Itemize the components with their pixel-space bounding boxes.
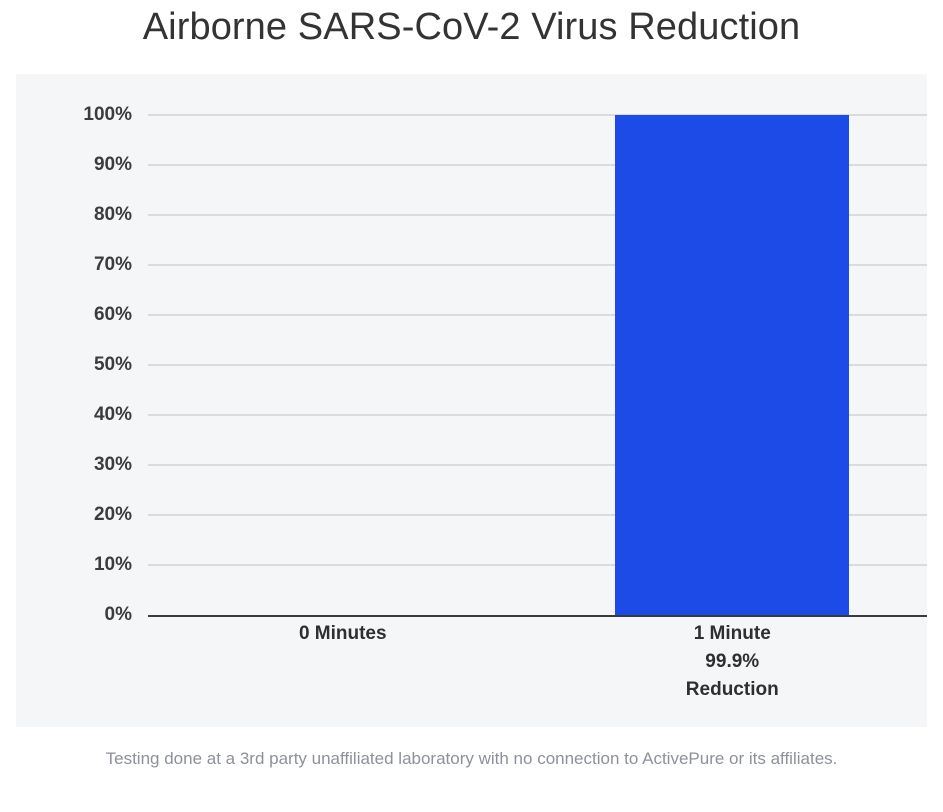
chart-caption: Testing done at a 3rd party unaffiliated… (60, 742, 883, 775)
y-axis-tick-label: 40% (22, 404, 132, 426)
y-axis-tick-label: 10% (22, 554, 132, 576)
x-axis-tick-label-line: 1 Minute (686, 620, 779, 648)
x-axis-tick-label-line: Reduction (686, 676, 779, 704)
x-axis-tick-label-line: 0 Minutes (299, 620, 387, 648)
plot-area (148, 115, 927, 615)
page-title: Airborne SARS-CoV-2 Virus Reduction (0, 2, 943, 52)
bars-group (148, 115, 927, 615)
y-axis-tick-label: 50% (22, 354, 132, 376)
bar[interactable] (615, 115, 849, 615)
y-axis-tick-label: 20% (22, 504, 132, 526)
x-axis-tick-label: 0 Minutes (299, 620, 387, 648)
y-axis-tick-labels: 0%10%20%30%40%50%60%70%80%90%100% (22, 115, 132, 615)
y-axis-tick-label: 90% (22, 154, 132, 176)
y-axis-tick-label: 0% (22, 604, 132, 626)
x-axis-tick-label-line: 99.9% (686, 648, 779, 676)
y-axis-tick-label: 100% (22, 104, 132, 126)
x-axis-line (148, 615, 927, 617)
x-axis-tick-labels: 0 Minutes1 Minute99.9%Reduction (148, 620, 927, 720)
chart-panel: 0%10%20%30%40%50%60%70%80%90%100% 0 Minu… (16, 74, 927, 727)
y-axis-tick-label: 60% (22, 304, 132, 326)
y-axis-tick-label: 80% (22, 204, 132, 226)
x-axis-tick-label: 1 Minute99.9%Reduction (686, 620, 779, 704)
y-axis-tick-label: 30% (22, 454, 132, 476)
y-axis-tick-label: 70% (22, 254, 132, 276)
